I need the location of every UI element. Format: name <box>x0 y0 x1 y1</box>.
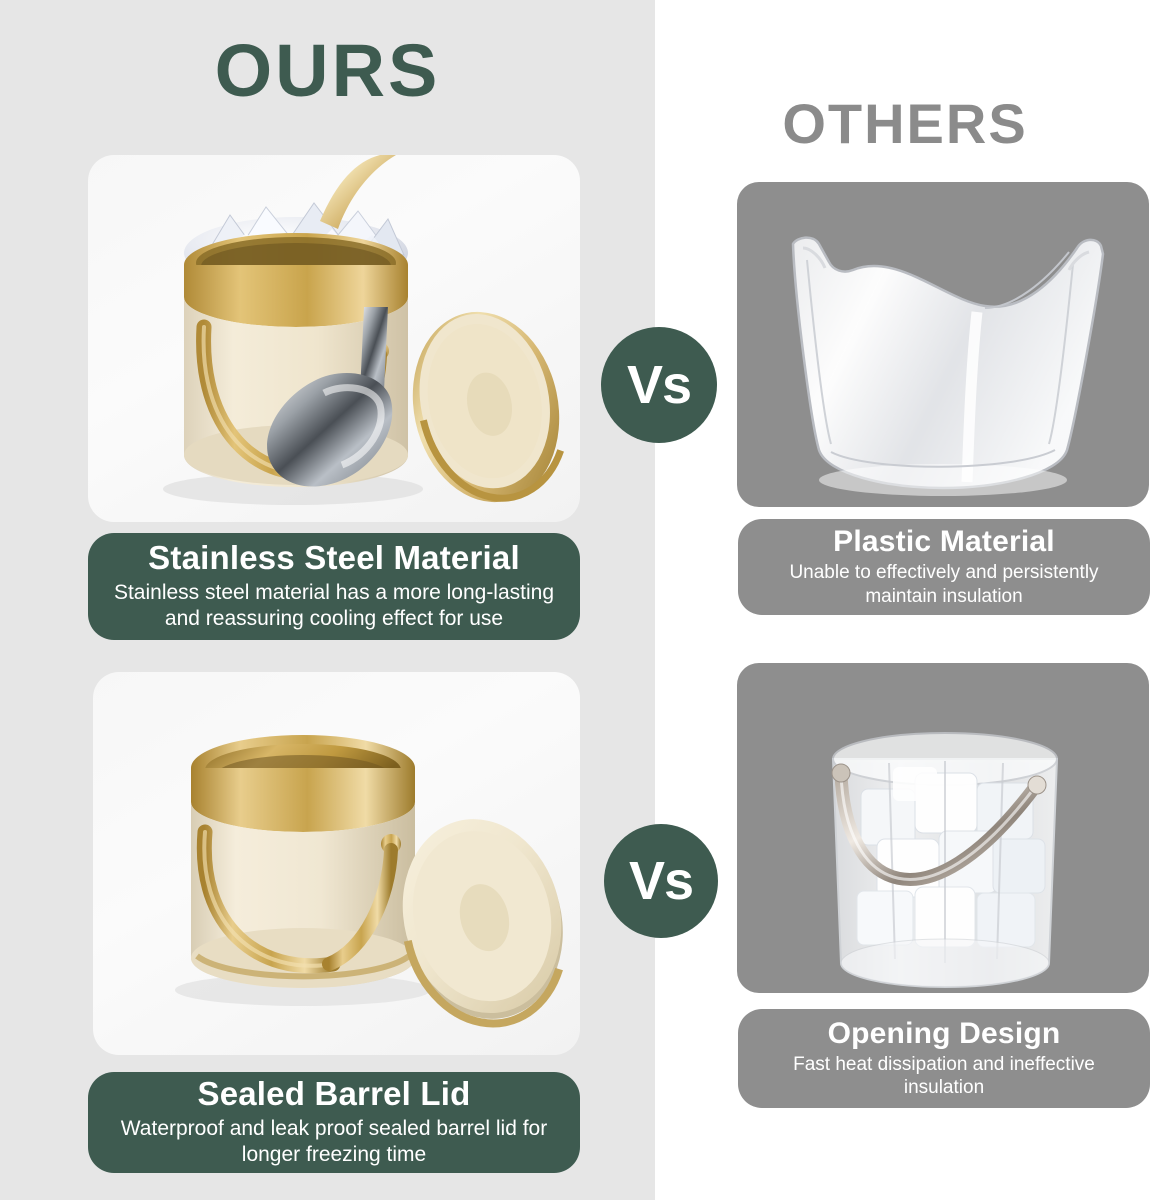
others-heading: OTHERS <box>655 96 1155 152</box>
others-caption-2-title: Opening Design <box>828 1017 1061 1051</box>
ice-cubes <box>857 767 1045 947</box>
ice-bucket-with-sealed-lid-illustration <box>93 672 580 1055</box>
ours-caption-1: Stainless Steel Material Stainless steel… <box>88 533 580 640</box>
others-caption-2-subtitle: Fast heat dissipation and ineffective in… <box>752 1053 1136 1101</box>
others-product-photo-2 <box>737 663 1149 993</box>
others-caption-1: Plastic Material Unable to effectively a… <box>738 519 1150 615</box>
others-caption-2: Opening Design Fast heat dissipation and… <box>738 1009 1150 1108</box>
others-caption-1-subtitle: Unable to effectively and persistently m… <box>752 561 1136 609</box>
clear-plastic-bucket-illustration <box>737 182 1149 507</box>
ours-product-photo-1 <box>88 155 580 522</box>
bucket-lid <box>396 298 577 516</box>
others-product-photo-1 <box>737 182 1149 507</box>
ours-caption-2-title: Sealed Barrel Lid <box>197 1076 470 1113</box>
ice-bucket-with-ice-illustration <box>88 155 580 522</box>
ours-caption-1-title: Stainless Steel Material <box>148 540 520 577</box>
ours-caption-1-subtitle: Stainless steel material has a more long… <box>102 580 566 633</box>
plastic-bucket-body <box>793 238 1103 488</box>
ours-caption-2-subtitle: Waterproof and leak proof sealed barrel … <box>102 1116 566 1169</box>
others-caption-1-title: Plastic Material <box>833 525 1055 559</box>
ours-heading: OURS <box>0 34 655 108</box>
ours-product-photo-2 <box>93 672 580 1055</box>
vs-badge-1: Vs <box>601 327 717 443</box>
vs-badge-2: Vs <box>604 824 718 938</box>
clear-bucket-with-ice-illustration <box>737 663 1149 993</box>
comparison-infographic: OURS OTHERS <box>0 0 1155 1200</box>
ours-caption-2: Sealed Barrel Lid Waterproof and leak pr… <box>88 1072 580 1173</box>
